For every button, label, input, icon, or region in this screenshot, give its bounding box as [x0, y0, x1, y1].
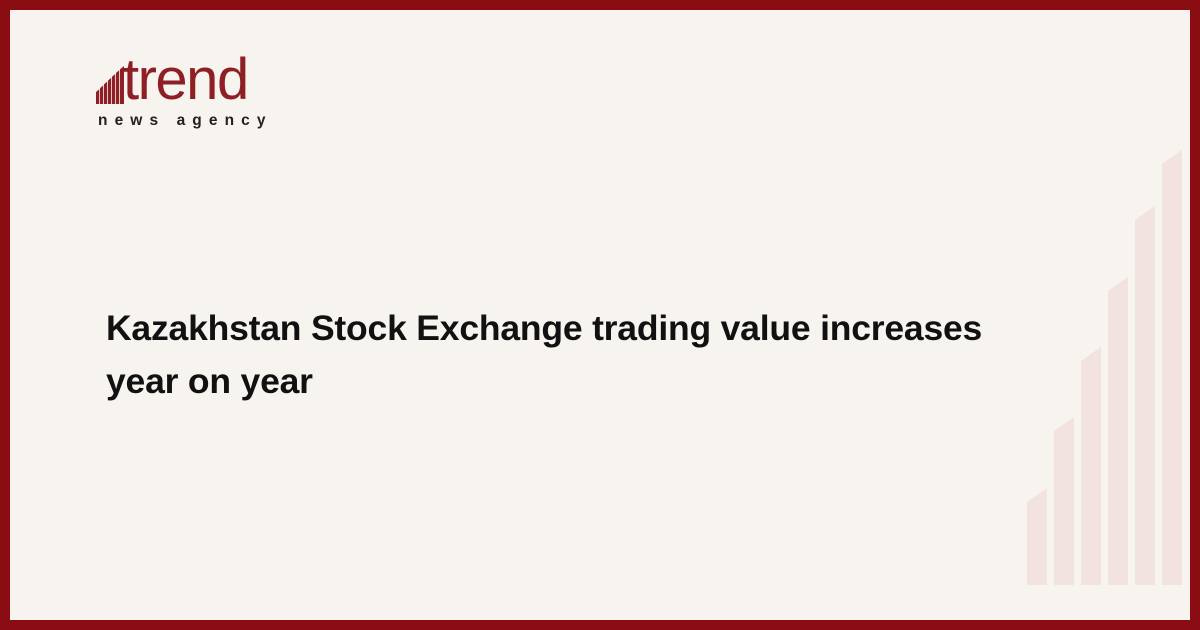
article-headline: Kazakhstan Stock Exchange trading value … [106, 302, 1056, 408]
logo-tagline: news agency [98, 112, 396, 130]
ascending-bars-logo-mark-icon [96, 52, 124, 104]
share-card: trend news agency Kazakhstan Stock Excha… [0, 0, 1200, 630]
trend-logo[interactable]: trend news agency [96, 48, 396, 130]
logo-row: trend [96, 48, 396, 106]
logo-wordmark: trend [123, 54, 248, 106]
